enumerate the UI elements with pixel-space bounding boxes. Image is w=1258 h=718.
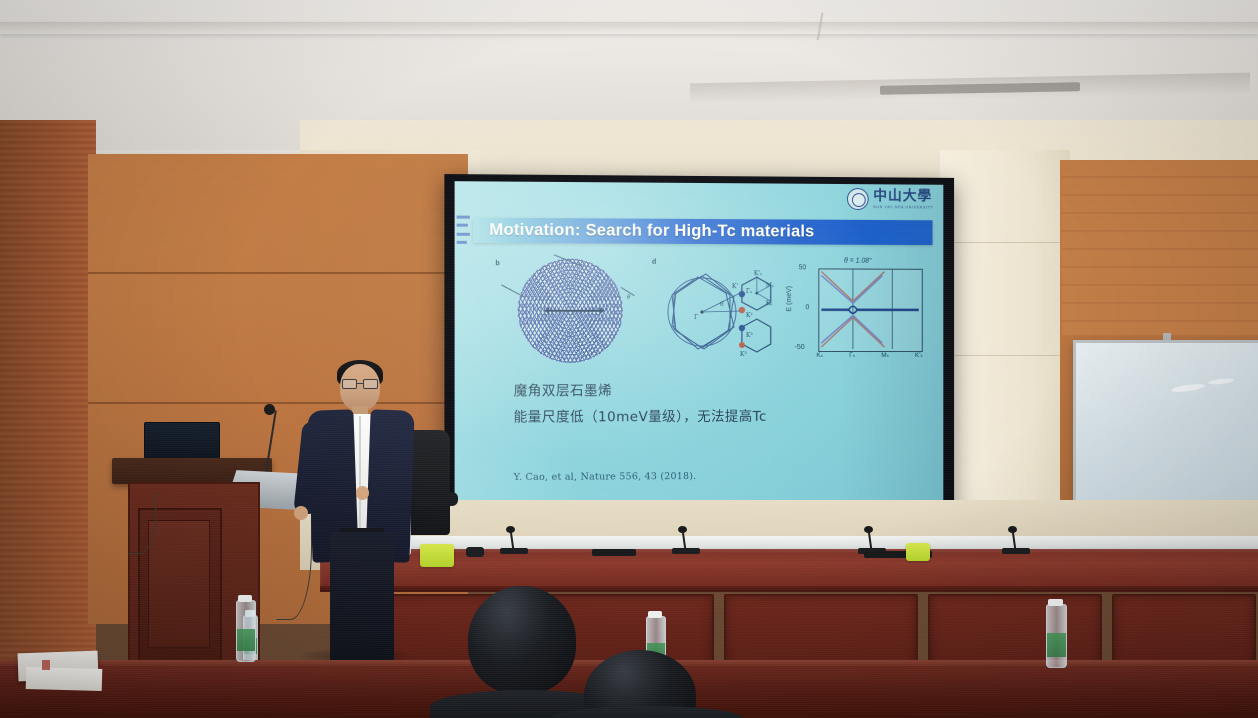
band-ytick-mid: 0 (805, 304, 809, 311)
yellow-pouch[interactable] (420, 544, 454, 567)
bottle-cap (1048, 599, 1063, 606)
wall-seam (940, 355, 1070, 356)
slide-body-line-1: 魔角双层石墨烯 (514, 379, 913, 405)
panel-b-label: b (495, 260, 499, 267)
microphone-head-icon (678, 526, 687, 533)
conference-table-front (320, 549, 1258, 589)
bottle-label (1047, 633, 1066, 657)
presenter-trousers (330, 532, 394, 662)
yellow-pouch[interactable] (906, 543, 930, 561)
scale-arrow-icon (548, 310, 601, 312)
svg-text:Γₛ: Γₛ (746, 288, 752, 295)
water-bottle[interactable] (1046, 604, 1067, 668)
svg-text:K²: K² (746, 312, 753, 319)
band-xtick-3: K'ₛ (915, 351, 923, 359)
band-curves (819, 269, 919, 349)
presenter-remote[interactable] (592, 549, 636, 556)
ceiling-wire (698, 0, 823, 40)
band-xtick-1: Γₛ (849, 351, 855, 359)
ceiling-soffit (0, 22, 1258, 34)
band-xtick-2: Mₛ (881, 351, 889, 359)
mic-base-puck (466, 547, 484, 557)
wall-seam (940, 242, 1070, 243)
svg-text:K³: K³ (740, 351, 747, 358)
band-xtick-0: Kₛ (816, 351, 823, 359)
projection-screen: 中山大學 SUN YAT-SEN UNIVERSITY Motivation: … (444, 174, 954, 534)
title-dash-decoration (457, 216, 471, 244)
papers-stack[interactable] (26, 667, 103, 691)
svg-text:Mₛ: Mₛ (766, 282, 774, 289)
water-bottle[interactable] (236, 600, 256, 662)
bottle-cap (238, 595, 252, 602)
band-structure-plot: θ = 1.08° E (meV) 50 0 -50 (789, 257, 927, 367)
logo-english-text: SUN YAT-SEN UNIVERSITY (873, 205, 933, 209)
seal-icon (847, 188, 869, 210)
presenter (300, 360, 420, 670)
slide-figure-row: b θ d (475, 254, 930, 370)
university-logo: 中山大學 SUN YAT-SEN UNIVERSITY (847, 188, 934, 210)
svg-text:K'ₛ: K'ₛ (754, 270, 762, 277)
slide-title-bar: Motivation: Search for High-Tc materials (473, 218, 933, 245)
band-ytick-top: 50 (799, 264, 807, 271)
band-theta-label: θ = 1.08° (844, 258, 872, 265)
slide-title: Motivation: Search for High-Tc materials (489, 221, 814, 242)
gooseneck-microphone[interactable] (672, 528, 700, 554)
slide-citation: Y. Cao, et al, Nature 556, 43 (2018). (514, 471, 697, 483)
svg-text:K³: K³ (746, 332, 753, 339)
laptop-screen[interactable] (144, 422, 220, 462)
svg-text:θ: θ (720, 301, 724, 308)
slide-body-line-2: 能量尺度低（10meV量级），无法提高Tc (514, 404, 913, 431)
svg-text:Kₛ: Kₛ (766, 300, 772, 307)
podium-panel-inner (148, 520, 210, 648)
bottle-cap (648, 611, 662, 618)
glasses-icon (342, 379, 378, 387)
microphone-head-icon (864, 526, 873, 533)
svg-text:K': K' (732, 283, 738, 290)
lecture-hall-photo: 中山大學 SUN YAT-SEN UNIVERSITY Motivation: … (0, 0, 1258, 718)
podium-microphone-head-icon (264, 404, 275, 415)
panel-d-label: d (652, 259, 656, 266)
projected-slide: 中山大學 SUN YAT-SEN UNIVERSITY Motivation: … (455, 181, 944, 521)
svg-text:Γ: Γ (694, 314, 698, 321)
wood-seam (88, 272, 468, 274)
presenter-shirt-placket (359, 416, 361, 528)
figure-panel-b: b θ (495, 258, 637, 367)
theta-label: θ (627, 295, 630, 301)
band-plot-frame (818, 268, 922, 352)
gooseneck-microphone[interactable] (1002, 528, 1030, 554)
paper-bookmark (42, 660, 50, 670)
slide-body-text: 魔角双层石墨烯 能量尺度低（10meV量级），无法提高Tc (514, 379, 913, 431)
microphone-head-icon (506, 526, 515, 533)
audience-head (468, 586, 576, 694)
conference-table-edge (320, 586, 1258, 592)
wall-wood-right-slats (1062, 160, 1258, 335)
brillouin-zone-diagram: K' K'ₛ Mₛ Kₛ Γₛ K² K³ K³ Γ θ (660, 257, 780, 367)
moire-pattern-icon (518, 258, 623, 363)
microphone-head-icon (1008, 526, 1017, 533)
presenter-hand-right (356, 486, 369, 500)
logo-chinese-text: 中山大學 (873, 189, 933, 203)
gooseneck-microphone[interactable] (500, 528, 528, 554)
presenter-hand-left (294, 506, 308, 520)
wall-left-shadow (0, 120, 96, 680)
bottle-label (237, 629, 255, 651)
band-x-tick-labels: Kₛ Γₛ Mₛ K'ₛ (816, 351, 922, 359)
whiteboard-glare (1171, 383, 1206, 394)
band-ytick-bottom: -50 (795, 344, 805, 351)
whiteboard-glare (1208, 378, 1234, 386)
band-y-axis-label: E (meV) (786, 286, 793, 312)
leader-line (501, 284, 523, 296)
figure-panel-d: d (652, 255, 782, 367)
